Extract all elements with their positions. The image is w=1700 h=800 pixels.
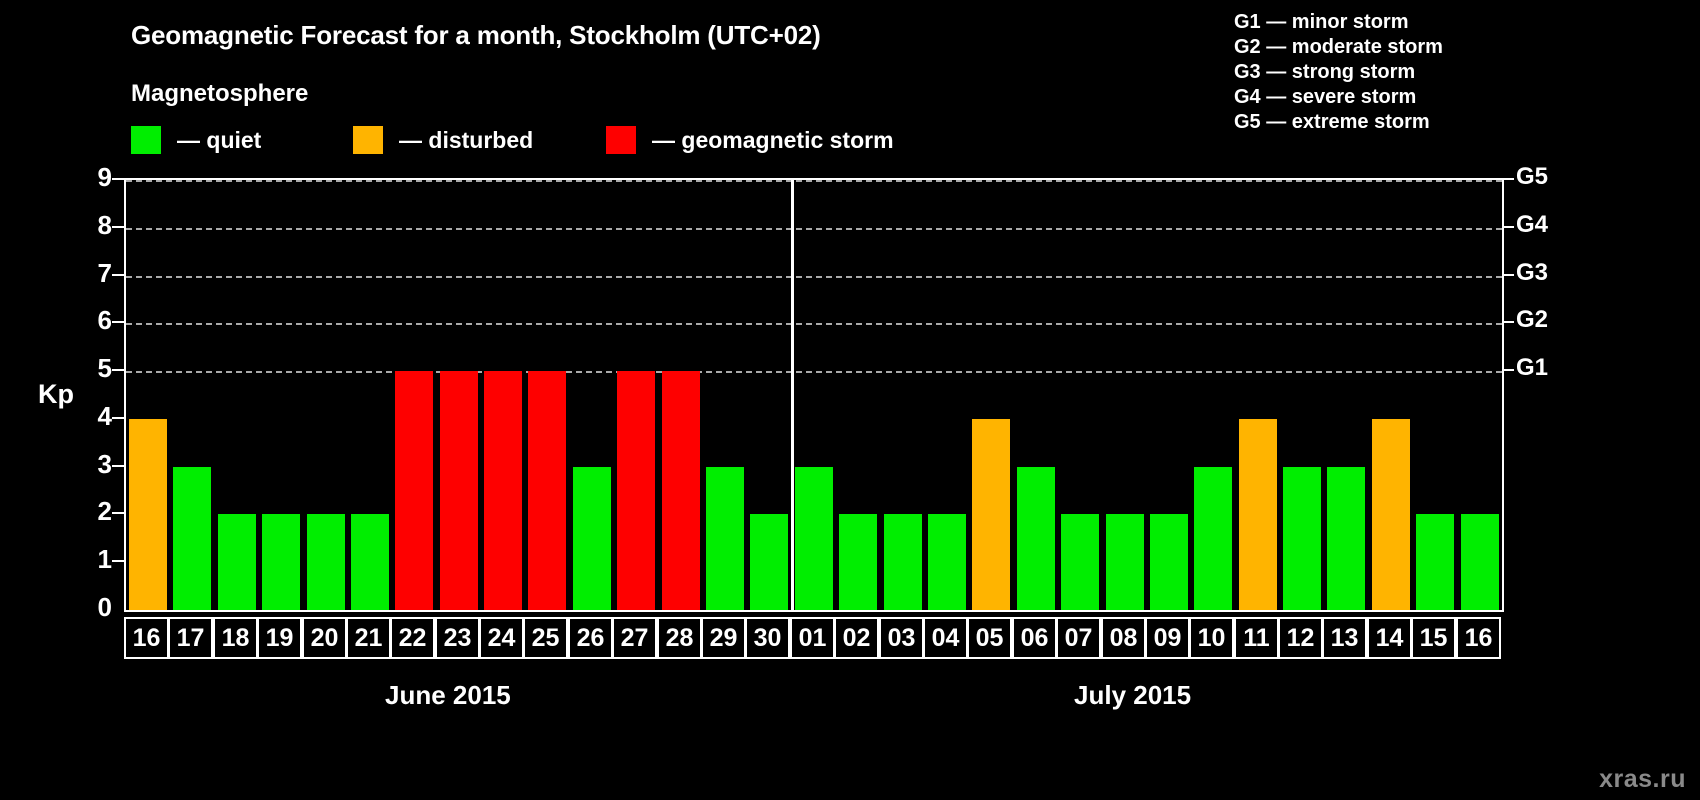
legend-label-quiet: — quiet xyxy=(177,127,261,154)
y-tick-mark-9 xyxy=(112,178,124,180)
bars-layer xyxy=(126,180,1502,610)
legend-entry-disturbed: — disturbed xyxy=(353,125,533,155)
date-cell-june-16[interactable]: 16 xyxy=(124,617,169,659)
legend-swatch-storm xyxy=(606,126,636,154)
bar-july-02[interactable] xyxy=(839,514,877,610)
bar-july-12[interactable] xyxy=(1283,467,1321,610)
g-tick-label-G2: G2 xyxy=(1516,308,1548,332)
bar-july-05[interactable] xyxy=(972,419,1010,610)
g-scale-line-1: G1 — minor storm xyxy=(1234,10,1443,35)
g-tick-mark-G1 xyxy=(1502,369,1514,371)
bar-june-28[interactable] xyxy=(662,371,700,610)
date-cell-june-17[interactable]: 17 xyxy=(168,617,213,659)
date-cell-june-28[interactable]: 28 xyxy=(657,617,702,659)
bar-july-04[interactable] xyxy=(928,514,966,610)
bar-june-22[interactable] xyxy=(395,371,433,610)
g-scale-line-5: G5 — extreme storm xyxy=(1234,110,1443,135)
date-axis: 1617181920212223242526272829300102030405… xyxy=(124,617,1504,661)
date-cell-july-16[interactable]: 16 xyxy=(1456,617,1501,659)
g-tick-label-G1: G1 xyxy=(1516,356,1548,380)
y-tick-mark-1 xyxy=(112,560,124,562)
date-cell-july-05[interactable]: 05 xyxy=(967,617,1012,659)
y-tick-label-4: 4 xyxy=(72,403,112,429)
bar-june-21[interactable] xyxy=(351,514,389,610)
date-cell-july-06[interactable]: 06 xyxy=(1012,617,1057,659)
bar-july-07[interactable] xyxy=(1061,514,1099,610)
y-tick-mark-5 xyxy=(112,369,124,371)
g-tick-mark-G3 xyxy=(1502,274,1514,276)
y-tick-label-2: 2 xyxy=(72,498,112,524)
date-cell-july-01[interactable]: 01 xyxy=(790,617,835,659)
bar-june-30[interactable] xyxy=(750,514,788,610)
date-cell-june-25[interactable]: 25 xyxy=(523,617,568,659)
g-scale-line-3: G3 — strong storm xyxy=(1234,60,1443,85)
y-tick-mark-6 xyxy=(112,321,124,323)
date-cell-july-04[interactable]: 04 xyxy=(923,617,968,659)
y-tick-label-1: 1 xyxy=(72,546,112,572)
g-tick-label-G4: G4 xyxy=(1516,213,1548,237)
date-cell-july-15[interactable]: 15 xyxy=(1411,617,1456,659)
y-tick-mark-2 xyxy=(112,512,124,514)
legend-entry-storm: — geomagnetic storm xyxy=(606,125,894,155)
bar-july-10[interactable] xyxy=(1194,467,1232,610)
bar-july-15[interactable] xyxy=(1416,514,1454,610)
g-tick-label-G3: G3 xyxy=(1516,261,1548,285)
y-tick-mark-3 xyxy=(112,465,124,467)
bar-july-16[interactable] xyxy=(1461,514,1499,610)
legend-label-storm: — geomagnetic storm xyxy=(652,127,894,154)
date-cell-july-14[interactable]: 14 xyxy=(1367,617,1412,659)
date-cell-june-20[interactable]: 20 xyxy=(302,617,347,659)
date-cell-june-26[interactable]: 26 xyxy=(568,617,613,659)
y-tick-label-5: 5 xyxy=(72,355,112,381)
date-cell-june-21[interactable]: 21 xyxy=(346,617,391,659)
date-cell-july-10[interactable]: 10 xyxy=(1189,617,1234,659)
plot-area xyxy=(124,178,1504,612)
bar-june-23[interactable] xyxy=(440,371,478,610)
g-scale-line-2: G2 — moderate storm xyxy=(1234,35,1443,60)
y-axis-title: Kp xyxy=(38,379,74,410)
g-tick-mark-G5 xyxy=(1502,178,1514,180)
y-tick-mark-7 xyxy=(112,274,124,276)
y-tick-label-7: 7 xyxy=(72,260,112,286)
date-cell-june-18[interactable]: 18 xyxy=(213,617,258,659)
g-scale-legend: G1 — minor stormG2 — moderate stormG3 — … xyxy=(1234,10,1443,135)
date-cell-july-02[interactable]: 02 xyxy=(834,617,879,659)
month-divider xyxy=(791,178,794,610)
month-caption-july: July 2015 xyxy=(1074,680,1191,711)
bar-june-16[interactable] xyxy=(129,419,167,610)
y-tick-label-6: 6 xyxy=(72,307,112,333)
date-cell-june-29[interactable]: 29 xyxy=(701,617,746,659)
legend-entry-quiet: — quiet xyxy=(131,125,261,155)
date-cell-june-27[interactable]: 27 xyxy=(612,617,657,659)
y-tick-label-0: 0 xyxy=(72,594,112,620)
bar-july-11[interactable] xyxy=(1239,419,1277,610)
date-cell-june-22[interactable]: 22 xyxy=(390,617,435,659)
date-cell-june-23[interactable]: 23 xyxy=(435,617,480,659)
g-tick-label-G5: G5 xyxy=(1516,165,1548,189)
chart-root: Geomagnetic Forecast for a month, Stockh… xyxy=(0,0,1700,800)
bar-june-24[interactable] xyxy=(484,371,522,610)
bar-june-29[interactable] xyxy=(706,467,744,610)
y-tick-mark-4 xyxy=(112,417,124,419)
date-cell-june-24[interactable]: 24 xyxy=(479,617,524,659)
legend-swatch-quiet xyxy=(131,126,161,154)
date-cell-june-30[interactable]: 30 xyxy=(745,617,790,659)
magnetosphere-label: Magnetosphere xyxy=(131,80,308,108)
y-tick-mark-8 xyxy=(112,226,124,228)
g-scale-line-4: G4 — severe storm xyxy=(1234,85,1443,110)
y-tick-label-9: 9 xyxy=(72,164,112,190)
date-cell-june-19[interactable]: 19 xyxy=(257,617,302,659)
bar-june-26[interactable] xyxy=(573,467,611,610)
bar-june-18[interactable] xyxy=(218,514,256,610)
bar-june-25[interactable] xyxy=(528,371,566,610)
date-cell-july-11[interactable]: 11 xyxy=(1234,617,1279,659)
y-tick-label-8: 8 xyxy=(72,212,112,238)
bar-july-13[interactable] xyxy=(1327,467,1365,610)
date-cell-july-07[interactable]: 07 xyxy=(1056,617,1101,659)
bar-june-17[interactable] xyxy=(173,467,211,610)
month-caption-june: June 2015 xyxy=(385,680,511,711)
bar-june-19[interactable] xyxy=(262,514,300,610)
bar-july-01[interactable] xyxy=(795,467,833,610)
date-cell-july-13[interactable]: 13 xyxy=(1322,617,1367,659)
bar-july-06[interactable] xyxy=(1017,467,1055,610)
page-title: Geomagnetic Forecast for a month, Stockh… xyxy=(131,20,821,51)
y-tick-label-3: 3 xyxy=(72,451,112,477)
legend-swatch-disturbed xyxy=(353,126,383,154)
g-tick-mark-G2 xyxy=(1502,321,1514,323)
g-tick-mark-G4 xyxy=(1502,226,1514,228)
date-cell-july-08[interactable]: 08 xyxy=(1101,617,1146,659)
bar-july-03[interactable] xyxy=(884,514,922,610)
bar-july-08[interactable] xyxy=(1106,514,1144,610)
bar-june-20[interactable] xyxy=(307,514,345,610)
date-cell-july-12[interactable]: 12 xyxy=(1278,617,1323,659)
bar-july-09[interactable] xyxy=(1150,514,1188,610)
bar-july-14[interactable] xyxy=(1372,419,1410,610)
date-cell-july-09[interactable]: 09 xyxy=(1145,617,1190,659)
watermark: xras.ru xyxy=(1599,765,1686,794)
date-cell-july-03[interactable]: 03 xyxy=(879,617,924,659)
bar-june-27[interactable] xyxy=(617,371,655,610)
legend-label-disturbed: — disturbed xyxy=(399,127,533,154)
